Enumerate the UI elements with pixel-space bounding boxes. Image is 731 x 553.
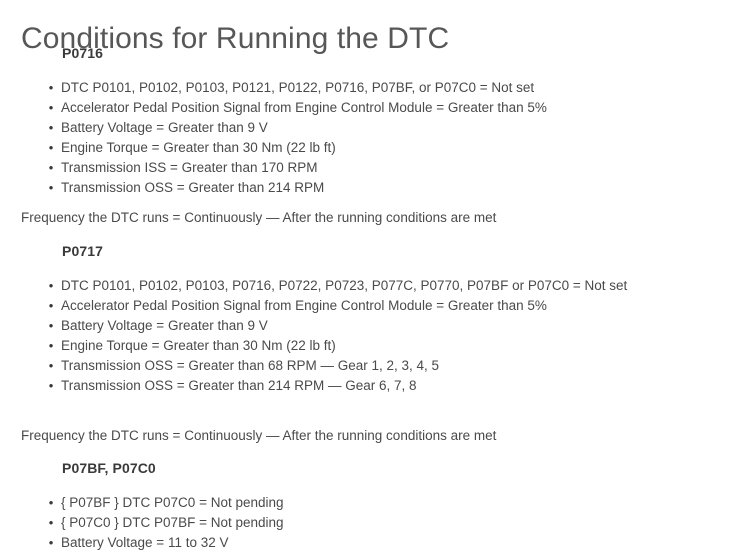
conditions-list-p0717: • DTC P0101, P0102, P0103, P0716, P0722,… (0, 276, 731, 396)
bullet-icon: • (46, 533, 56, 553)
bullet-icon: • (46, 296, 56, 316)
list-item: • Transmission OSS = Greater than 68 RPM… (0, 356, 731, 376)
section-heading-p07bf-p07c0: P07BF, P07C0 (0, 459, 731, 477)
condition-text: DTC P0101, P0102, P0103, P0716, P0722, P… (61, 278, 627, 293)
condition-text: Engine Torque = Greater than 30 Nm (22 l… (61, 338, 336, 353)
bullet-icon: • (46, 178, 56, 198)
list-item: • { P07BF } DTC P07C0 = Not pending (0, 493, 731, 513)
list-item: • Accelerator Pedal Position Signal from… (0, 98, 731, 118)
section-heading-p0716: P0716 (0, 44, 731, 62)
dtc-section-p07bf-p07c0: P07BF, P07C0 • { P07BF } DTC P07C0 = Not… (0, 459, 731, 553)
bullet-icon: • (46, 118, 56, 138)
list-item: • DTC P0101, P0102, P0103, P0121, P0122,… (0, 78, 731, 98)
condition-text: Battery Voltage = 11 to 32 V (61, 535, 229, 550)
list-item: • Engine Torque = Greater than 30 Nm (22… (0, 336, 731, 356)
condition-text: Accelerator Pedal Position Signal from E… (61, 298, 547, 313)
condition-text: { P07C0 } DTC P07BF = Not pending (61, 515, 284, 530)
bullet-icon: • (46, 98, 56, 118)
bullet-icon: • (46, 138, 56, 158)
conditions-list-p0716: • DTC P0101, P0102, P0103, P0121, P0122,… (0, 78, 731, 198)
dtc-section-p0716: P0716 • DTC P0101, P0102, P0103, P0121, … (0, 44, 731, 228)
list-item: • Battery Voltage = Greater than 9 V (0, 316, 731, 336)
bullet-icon: • (46, 336, 56, 356)
list-item: • Accelerator Pedal Position Signal from… (0, 296, 731, 316)
condition-text: Accelerator Pedal Position Signal from E… (61, 100, 547, 115)
list-item: • DTC P0101, P0102, P0103, P0716, P0722,… (0, 276, 731, 296)
conditions-list-p07bf-p07c0: • { P07BF } DTC P07C0 = Not pending • { … (0, 493, 731, 553)
condition-text: Transmission OSS = Greater than 214 RPM … (61, 378, 417, 393)
bullet-icon: • (46, 376, 56, 396)
list-item: • Engine Torque = Greater than 30 Nm (22… (0, 138, 731, 158)
list-item: • Transmission OSS = Greater than 214 RP… (0, 376, 731, 396)
condition-text: Transmission ISS = Greater than 170 RPM (61, 160, 317, 175)
condition-text: Battery Voltage = Greater than 9 V (61, 120, 268, 135)
list-item: • Battery Voltage = 11 to 32 V (0, 533, 731, 553)
list-item: • Transmission OSS = Greater than 214 RP… (0, 178, 731, 198)
list-item: • Transmission ISS = Greater than 170 RP… (0, 158, 731, 178)
section-heading-p0717: P0717 (0, 242, 731, 260)
dtc-section-p0717: P0717 • DTC P0101, P0102, P0103, P0716, … (0, 242, 731, 446)
condition-text: { P07BF } DTC P07C0 = Not pending (61, 495, 284, 510)
bullet-icon: • (46, 158, 56, 178)
condition-text: Transmission OSS = Greater than 68 RPM —… (61, 358, 439, 373)
dtc-sections-container: P0716 • DTC P0101, P0102, P0103, P0121, … (0, 40, 731, 553)
condition-text: Transmission OSS = Greater than 214 RPM (61, 180, 324, 195)
bullet-icon: • (46, 493, 56, 513)
list-item: • { P07C0 } DTC P07BF = Not pending (0, 513, 731, 533)
condition-text: Engine Torque = Greater than 30 Nm (22 l… (61, 140, 336, 155)
bullet-icon: • (46, 276, 56, 296)
bullet-icon: • (46, 78, 56, 98)
condition-text: Battery Voltage = Greater than 9 V (61, 318, 268, 333)
bullet-icon: • (46, 513, 56, 533)
bullet-icon: • (46, 316, 56, 336)
condition-text: DTC P0101, P0102, P0103, P0121, P0122, P… (61, 80, 534, 95)
list-item: • Battery Voltage = Greater than 9 V (0, 118, 731, 138)
frequency-line-p0717: Frequency the DTC runs = Continuously — … (0, 426, 731, 446)
frequency-line-p0716: Frequency the DTC runs = Continuously — … (0, 208, 731, 228)
bullet-icon: • (46, 356, 56, 376)
document-page: Conditions for Running the DTC P0716 • D… (0, 0, 731, 552)
